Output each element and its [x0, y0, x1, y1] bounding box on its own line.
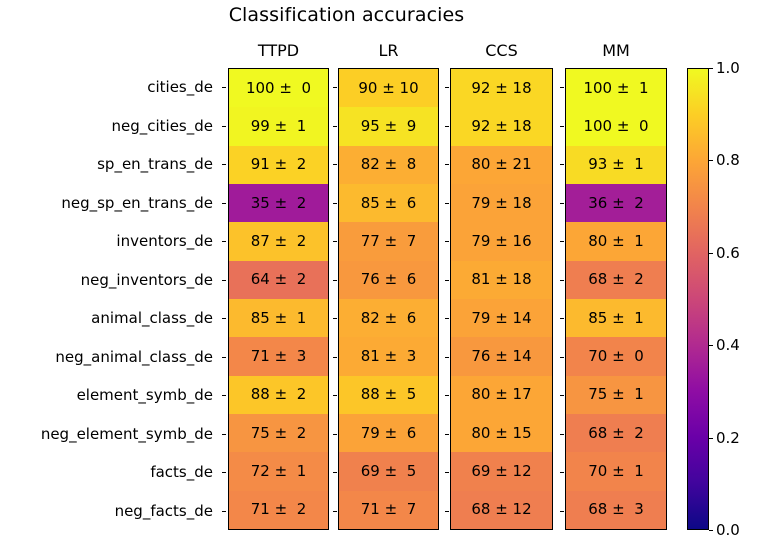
row-label-sp_en_trans_de: sp_en_trans_de: [0, 145, 222, 184]
row-tick: [445, 453, 449, 492]
colorbar: 0.00.20.40.60.81.0: [687, 68, 709, 530]
heatmap-cell: 64 ± 2: [229, 261, 328, 299]
column-header-TTPD: TTPD: [229, 41, 328, 60]
row-tick: [445, 376, 449, 415]
row-tick: [560, 415, 564, 454]
heatmap-cell-label: 82 ± 8: [361, 157, 417, 172]
colorbar-tick-label: 0.0: [716, 521, 740, 539]
heatmap-cell: 79 ± 6: [339, 414, 438, 452]
row-label-neg_facts_de: neg_facts_de: [0, 492, 222, 531]
row-tick: [445, 492, 449, 531]
heatmap-cell: 85 ± 1: [229, 299, 328, 337]
colorbar-gradient: [687, 68, 709, 530]
heatmap-cell: 100 ± 1: [566, 69, 666, 107]
heatmap-cell: 79 ± 16: [451, 222, 552, 260]
heatmap-cell: 81 ± 18: [451, 261, 552, 299]
heatmap-cell-label: 35 ± 2: [251, 196, 307, 211]
heatmap-cell: 80 ± 1: [566, 222, 666, 260]
column-header-MM: MM: [566, 41, 666, 60]
colorbar-tick: [709, 438, 713, 439]
colorbar-tick-label: 1.0: [716, 59, 740, 77]
colorbar-tick: [709, 160, 713, 161]
heatmap-cell: 68 ± 3: [566, 491, 666, 529]
heatmap-cell-label: 68 ± 12: [471, 502, 531, 517]
row-tick: [445, 338, 449, 377]
row-tick: [222, 415, 226, 454]
row-tick: [560, 492, 564, 531]
row-tick: [333, 492, 337, 531]
heatmap-cell: 69 ± 5: [339, 452, 438, 490]
heatmap-cell: 71 ± 3: [229, 337, 328, 375]
heatmap-cell-label: 79 ± 16: [471, 234, 531, 249]
heatmap-column-TTPD: TTPD100 ± 099 ± 191 ± 235 ± 287 ± 264 ± …: [228, 68, 329, 530]
heatmap-cell-label: 75 ± 2: [251, 426, 307, 441]
colorbar-tick-label: 0.8: [716, 151, 740, 169]
heatmap-cell-label: 64 ± 2: [251, 272, 307, 287]
row-tick: [222, 376, 226, 415]
row-label-neg_inventors_de: neg_inventors_de: [0, 261, 222, 300]
heatmap-column-MM: MM100 ± 1100 ± 093 ± 136 ± 280 ± 168 ± 2…: [565, 68, 667, 530]
heatmap-cell: 80 ± 15: [451, 414, 552, 452]
row-label-text: neg_element_symb_de: [41, 425, 213, 443]
colorbar-tick: [709, 345, 713, 346]
row-label-animal_class_de: animal_class_de: [0, 299, 222, 338]
row-tick: [445, 145, 449, 184]
heatmap-cell: 87 ± 2: [229, 222, 328, 260]
row-label-text: neg_cities_de: [111, 117, 213, 135]
row-tick: [222, 222, 226, 261]
row-label-neg_element_symb_de: neg_element_symb_de: [0, 415, 222, 454]
heatmap-cell-label: 68 ± 3: [588, 502, 644, 517]
heatmap-cell-label: 79 ± 18: [471, 196, 531, 211]
heatmap-cell: 91 ± 2: [229, 146, 328, 184]
row-tick: [222, 107, 226, 146]
row-label-text: neg_animal_class_de: [55, 348, 213, 366]
heatmap-cell: 88 ± 2: [229, 376, 328, 414]
heatmap-cell: 76 ± 14: [451, 337, 552, 375]
colorbar-tick: [709, 530, 713, 531]
heatmap-cell: 72 ± 1: [229, 452, 328, 490]
heatmap-cell: 75 ± 2: [229, 414, 328, 452]
row-label-neg_cities_de: neg_cities_de: [0, 107, 222, 146]
page-title: Classification accuracies: [0, 4, 693, 26]
row-tick: [222, 338, 226, 377]
heatmap-cell: 85 ± 6: [339, 184, 438, 222]
heatmap-cell: 82 ± 6: [339, 299, 438, 337]
row-tick: [222, 68, 226, 107]
row-label-text: element_symb_de: [77, 386, 213, 404]
column-header-CCS: CCS: [451, 41, 552, 60]
heatmap-cell-label: 90 ± 10: [358, 81, 418, 96]
heatmap-cell: 71 ± 2: [229, 491, 328, 529]
heatmap-cell: 82 ± 8: [339, 146, 438, 184]
row-tick: [445, 299, 449, 338]
heatmap-cell-label: 80 ± 15: [471, 426, 531, 441]
heatmap-cell: 35 ± 2: [229, 184, 328, 222]
heatmap-figure: Classification accuracies cities_deneg_c…: [0, 0, 759, 552]
row-tick: [560, 222, 564, 261]
row-tick: [333, 415, 337, 454]
heatmap-cell-label: 76 ± 6: [361, 272, 417, 287]
row-tick: [445, 222, 449, 261]
heatmap-cell-label: 68 ± 2: [588, 272, 644, 287]
heatmap-cell-label: 87 ± 2: [251, 234, 307, 249]
row-tick: [333, 184, 337, 223]
heatmap-cell: 85 ± 1: [566, 299, 666, 337]
row-tick: [333, 145, 337, 184]
column-tickmarks-MM: [560, 68, 564, 530]
heatmap-cell: 99 ± 1: [229, 107, 328, 145]
heatmap-cell: 71 ± 7: [339, 491, 438, 529]
heatmap-column-LR: LR90 ± 1095 ± 982 ± 885 ± 677 ± 776 ± 68…: [338, 68, 439, 530]
heatmap-cell: 36 ± 2: [566, 184, 666, 222]
heatmap-cell-label: 99 ± 1: [251, 119, 307, 134]
colorbar-tick: [709, 68, 713, 69]
heatmap-cell: 79 ± 18: [451, 184, 552, 222]
heatmap-cell-label: 69 ± 5: [361, 464, 417, 479]
heatmap-cell-label: 82 ± 6: [361, 311, 417, 326]
heatmap-cell-label: 71 ± 7: [361, 502, 417, 517]
heatmap-cell: 77 ± 7: [339, 222, 438, 260]
row-label-text: neg_inventors_de: [81, 271, 213, 289]
heatmap-cell-label: 80 ± 21: [471, 157, 531, 172]
row-tick: [222, 299, 226, 338]
heatmap-cell-label: 80 ± 17: [471, 387, 531, 402]
heatmap-cell: 76 ± 6: [339, 261, 438, 299]
heatmap-cell: 68 ± 2: [566, 414, 666, 452]
heatmap-cell-label: 72 ± 1: [251, 464, 307, 479]
row-tick: [222, 492, 226, 531]
heatmap-cell-label: 68 ± 2: [588, 426, 644, 441]
row-tick: [222, 184, 226, 223]
row-tick: [560, 68, 564, 107]
heatmap-cell: 70 ± 1: [566, 452, 666, 490]
heatmap-cell: 88 ± 5: [339, 376, 438, 414]
row-label-axis: cities_deneg_cities_desp_en_trans_deneg_…: [0, 68, 222, 530]
row-tick: [560, 107, 564, 146]
row-tick: [560, 453, 564, 492]
heatmap-cell-label: 85 ± 1: [588, 311, 644, 326]
row-tick: [333, 222, 337, 261]
heatmap-cell-label: 92 ± 18: [471, 81, 531, 96]
row-tick: [560, 261, 564, 300]
heatmap-cell: 69 ± 12: [451, 452, 552, 490]
row-label-facts_de: facts_de: [0, 453, 222, 492]
heatmap-cell: 93 ± 1: [566, 146, 666, 184]
heatmap-cell: 80 ± 17: [451, 376, 552, 414]
row-label-element_symb_de: element_symb_de: [0, 376, 222, 415]
row-label-cities_de: cities_de: [0, 68, 222, 107]
heatmap-cell-label: 88 ± 5: [361, 387, 417, 402]
heatmap-cell-label: 69 ± 12: [471, 464, 531, 479]
row-tick: [222, 453, 226, 492]
row-tick: [222, 261, 226, 300]
heatmap-cell-label: 80 ± 1: [588, 234, 644, 249]
row-tick: [560, 376, 564, 415]
row-tick: [333, 376, 337, 415]
row-label-text: neg_sp_en_trans_de: [61, 194, 213, 212]
row-tick: [333, 453, 337, 492]
heatmap-cell: 80 ± 21: [451, 146, 552, 184]
row-tick: [445, 261, 449, 300]
heatmap-cell: 92 ± 18: [451, 69, 552, 107]
colorbar-tick-label: 0.4: [716, 336, 740, 354]
column-tickmarks-LR: [333, 68, 337, 530]
heatmap-cell: 92 ± 18: [451, 107, 552, 145]
heatmap-cell-label: 95 ± 9: [361, 119, 417, 134]
heatmap-cell-label: 36 ± 2: [588, 196, 644, 211]
heatmap-cell: 100 ± 0: [566, 107, 666, 145]
heatmap-cell-label: 85 ± 6: [361, 196, 417, 211]
heatmap-cell-label: 88 ± 2: [251, 387, 307, 402]
row-label-text: animal_class_de: [91, 309, 213, 327]
heatmap-cell-label: 100 ± 0: [246, 81, 311, 96]
heatmap-cell: 81 ± 3: [339, 337, 438, 375]
row-label-neg_animal_class_de: neg_animal_class_de: [0, 338, 222, 377]
heatmap-cell-label: 85 ± 1: [251, 311, 307, 326]
column-header-LR: LR: [339, 41, 438, 60]
row-tick: [222, 145, 226, 184]
heatmap-cell: 75 ± 1: [566, 376, 666, 414]
row-tickmarks: [222, 68, 226, 530]
row-label-text: neg_facts_de: [115, 502, 213, 520]
row-tick: [560, 145, 564, 184]
heatmap-cell-label: 81 ± 3: [361, 349, 417, 364]
colorbar-tick: [709, 253, 713, 254]
heatmap-cell-label: 92 ± 18: [471, 119, 531, 134]
row-label-text: cities_de: [147, 78, 213, 96]
heatmap-cell-label: 70 ± 1: [588, 464, 644, 479]
heatmap-cell-label: 76 ± 14: [471, 349, 531, 364]
heatmap-cell: 90 ± 10: [339, 69, 438, 107]
row-tick: [445, 415, 449, 454]
heatmap-cell-label: 75 ± 1: [588, 387, 644, 402]
row-tick: [560, 338, 564, 377]
row-label-text: sp_en_trans_de: [97, 155, 213, 173]
row-label-neg_sp_en_trans_de: neg_sp_en_trans_de: [0, 184, 222, 223]
row-tick: [333, 261, 337, 300]
heatmap-column-CCS: CCS92 ± 1892 ± 1880 ± 2179 ± 1879 ± 1681…: [450, 68, 553, 530]
heatmap-cell-label: 81 ± 18: [471, 272, 531, 287]
heatmap-cell: 100 ± 0: [229, 69, 328, 107]
row-tick: [445, 68, 449, 107]
heatmap-cell: 68 ± 2: [566, 261, 666, 299]
row-tick: [333, 338, 337, 377]
row-label-inventors_de: inventors_de: [0, 222, 222, 261]
column-tickmarks-CCS: [445, 68, 449, 530]
row-label-text: facts_de: [150, 463, 213, 481]
heatmap-cell: 68 ± 12: [451, 491, 552, 529]
row-tick: [445, 184, 449, 223]
heatmap-cell-label: 71 ± 3: [251, 349, 307, 364]
heatmap-cell-label: 100 ± 1: [583, 81, 648, 96]
heatmap-cell-label: 71 ± 2: [251, 502, 307, 517]
heatmap-cell: 79 ± 14: [451, 299, 552, 337]
row-tick: [333, 68, 337, 107]
heatmap-cell-label: 79 ± 6: [361, 426, 417, 441]
row-tick: [333, 299, 337, 338]
row-tick: [560, 184, 564, 223]
heatmap-cell-label: 77 ± 7: [361, 234, 417, 249]
heatmap-cell: 70 ± 0: [566, 337, 666, 375]
colorbar-tick-label: 0.6: [716, 244, 740, 262]
heatmap-cell: 95 ± 9: [339, 107, 438, 145]
row-tick: [445, 107, 449, 146]
row-label-text: inventors_de: [116, 232, 213, 250]
heatmap-cell-label: 100 ± 0: [583, 119, 648, 134]
colorbar-tick-label: 0.2: [716, 429, 740, 447]
heatmap-cell-label: 93 ± 1: [588, 157, 644, 172]
row-tick: [333, 107, 337, 146]
heatmap-cell-label: 91 ± 2: [251, 157, 307, 172]
heatmap-cell-label: 70 ± 0: [588, 349, 644, 364]
heatmap-cell-label: 79 ± 14: [471, 311, 531, 326]
row-tick: [560, 299, 564, 338]
